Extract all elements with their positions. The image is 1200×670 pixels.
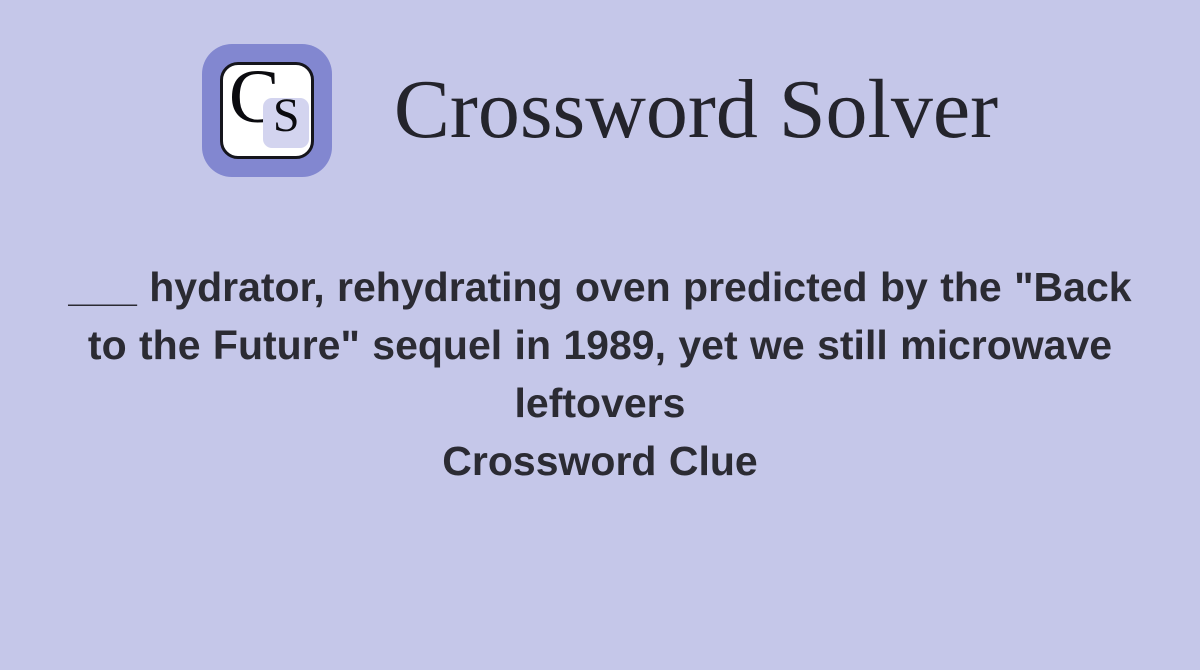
clue-text: ___ hydrator, rehydrating oven predicted… [68, 264, 1131, 426]
page-root: C S Crossword Solver ___ hydrator, rehyd… [0, 0, 1200, 670]
site-title[interactable]: Crossword Solver [394, 68, 998, 152]
site-header: C S Crossword Solver [0, 30, 1200, 190]
clue-suffix-label: Crossword Clue [60, 432, 1140, 490]
logo-tile-face: C S [220, 62, 314, 159]
clue-heading-block: ___ hydrator, rehydrating oven predicted… [60, 258, 1140, 490]
brand-logo[interactable]: C S [202, 44, 332, 177]
logo-letter-s-tile: S [263, 98, 309, 148]
page-title: ___ hydrator, rehydrating oven predicted… [60, 258, 1140, 490]
logo-letter-s-icon: S [273, 92, 300, 140]
